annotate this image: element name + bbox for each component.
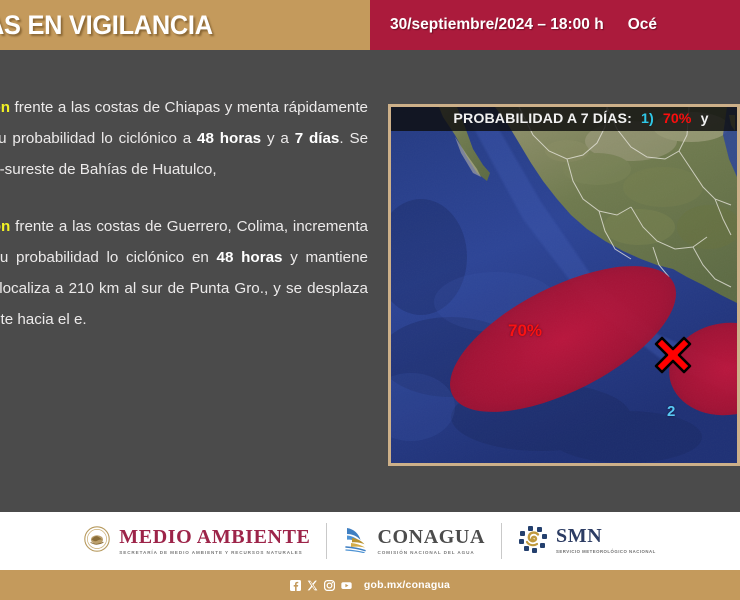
map-caption-bar: PROBABILIDAD A 7 DÍAS: 1) 70% y <box>391 107 737 131</box>
footer-social-bar: gob.mx/conagua <box>0 570 740 600</box>
page-header: AS EN VIGILANCIA 30/septiembre/2024 – 18… <box>0 0 740 50</box>
medio-ambiente-title: MEDIO AMBIENTE <box>119 527 310 548</box>
main-content: ja presión frente a las costas de Chiapa… <box>0 50 740 512</box>
facebook-icon[interactable] <box>290 580 301 591</box>
paragraph-1-segment-1: ja presión <box>0 99 10 116</box>
conagua-subtitle: COMISIÓN NACIONAL DEL AGUA <box>377 550 485 555</box>
conagua-water-icon <box>343 525 369 558</box>
caption-prefix: PROBABILIDAD A 7 DÍAS: <box>453 111 632 127</box>
conagua-wordmark: CONAGUA COMISIÓN NACIONAL DEL AGUA <box>377 527 485 555</box>
paragraph-1-segment-7: 48 horas <box>197 130 261 147</box>
map-caption-text: PROBABILIDAD A 7 DÍAS: 1) 70% y <box>453 111 708 127</box>
smn-spiral-icon <box>518 525 548 558</box>
header-basin-label: Océ <box>628 16 657 34</box>
smn-subtitle: SERVICIO METEOROLÓGICO NACIONAL <box>556 549 656 555</box>
paragraph-1-segment-2: frente a las costas de Chiapas y <box>10 99 237 116</box>
gob-url-label[interactable]: gob.mx/conagua <box>364 579 450 591</box>
paragraph-2-segment-7: 48 horas <box>217 249 283 266</box>
header-date-bar: 30/septiembre/2024 – 18:00 h Océ <box>370 0 740 50</box>
paragraph-2-segment-1: ja presión <box>0 218 10 235</box>
satellite-map-graphic <box>391 107 737 463</box>
medio-ambiente-subtitle: SECRETARÍA DE MEDIO AMBIENTE Y RECURSOS … <box>119 550 310 555</box>
map-label-area1-percent: 70% <box>508 321 542 341</box>
bulletin-paragraph-1: ja presión frente a las costas de Chiapa… <box>0 92 368 185</box>
logo-divider-2 <box>501 523 502 559</box>
paragraph-1-segment-10: . Se <box>339 130 368 147</box>
header-title-bar: AS EN VIGILANCIA <box>0 0 370 50</box>
paragraph-1-segment-8: y a <box>261 130 295 147</box>
forecast-map-panel[interactable]: PROBABILIDAD A 7 DÍAS: 1) 70% y 70% 2 <box>388 104 740 466</box>
smn-title: SMN <box>556 526 656 547</box>
mexico-eagle-seal-icon <box>84 526 110 557</box>
caption-tail: y <box>701 111 709 127</box>
paragraph-2-segment-6: lo ciclónico en <box>106 249 216 266</box>
x-twitter-icon[interactable] <box>307 580 318 591</box>
smn-wordmark: SMN SERVICIO METEOROLÓGICO NACIONAL <box>556 526 656 555</box>
paragraph-1-segment-9: 7 días <box>295 130 340 147</box>
logo-divider-1 <box>326 523 327 559</box>
logo-conagua: CONAGUA COMISIÓN NACIONAL DEL AGUA <box>343 525 485 558</box>
paragraph-1-segment-11: km al sur-sureste de Bahías de Huatulco, <box>0 161 217 178</box>
paragraph-1-segment-6: lo ciclónico a <box>101 130 197 147</box>
paragraph-2-segment-5: su probabilidad <box>0 249 106 266</box>
logo-row: MEDIO AMBIENTE SECRETARÍA DE MEDIO AMBIE… <box>84 523 655 559</box>
paragraph-2-segment-8: y mantiene <box>283 249 368 266</box>
conagua-title: CONAGUA <box>377 527 485 548</box>
youtube-icon[interactable] <box>341 580 352 591</box>
logo-smn: SMN SERVICIO METEOROLÓGICO NACIONAL <box>518 525 656 558</box>
paragraph-2-segment-10: Se localiza a 210 km al sur de Punta <box>0 280 234 297</box>
logo-medio-ambiente: MEDIO AMBIENTE SECRETARÍA DE MEDIO AMBIE… <box>84 526 310 557</box>
paragraph-1-segment-5: su probabilidad <box>0 130 101 147</box>
footer-logo-bar: MEDIO AMBIENTE SECRETARÍA DE MEDIO AMBIE… <box>0 512 740 570</box>
bulletin-paragraph-2: ja presión frente a las costas de Guerre… <box>0 211 368 335</box>
medio-ambiente-wordmark: MEDIO AMBIENTE SECRETARÍA DE MEDIO AMBIE… <box>119 527 310 555</box>
map-image <box>391 107 737 463</box>
caption-percent: 70% <box>663 111 692 127</box>
header-datetime: 30/septiembre/2024 – 18:00 h <box>390 16 604 34</box>
instagram-icon[interactable] <box>324 580 335 591</box>
caption-number: 1) <box>641 111 654 127</box>
page-title: AS EN VIGILANCIA <box>0 10 213 41</box>
map-label-area2-number: 2 <box>667 403 675 420</box>
paragraph-2-segment-12: e. <box>74 311 87 328</box>
bulletin-text-column: ja presión frente a las costas de Chiapa… <box>0 92 368 335</box>
paragraph-2-segment-2: frente a las costas de Guerrero, <box>10 218 236 235</box>
